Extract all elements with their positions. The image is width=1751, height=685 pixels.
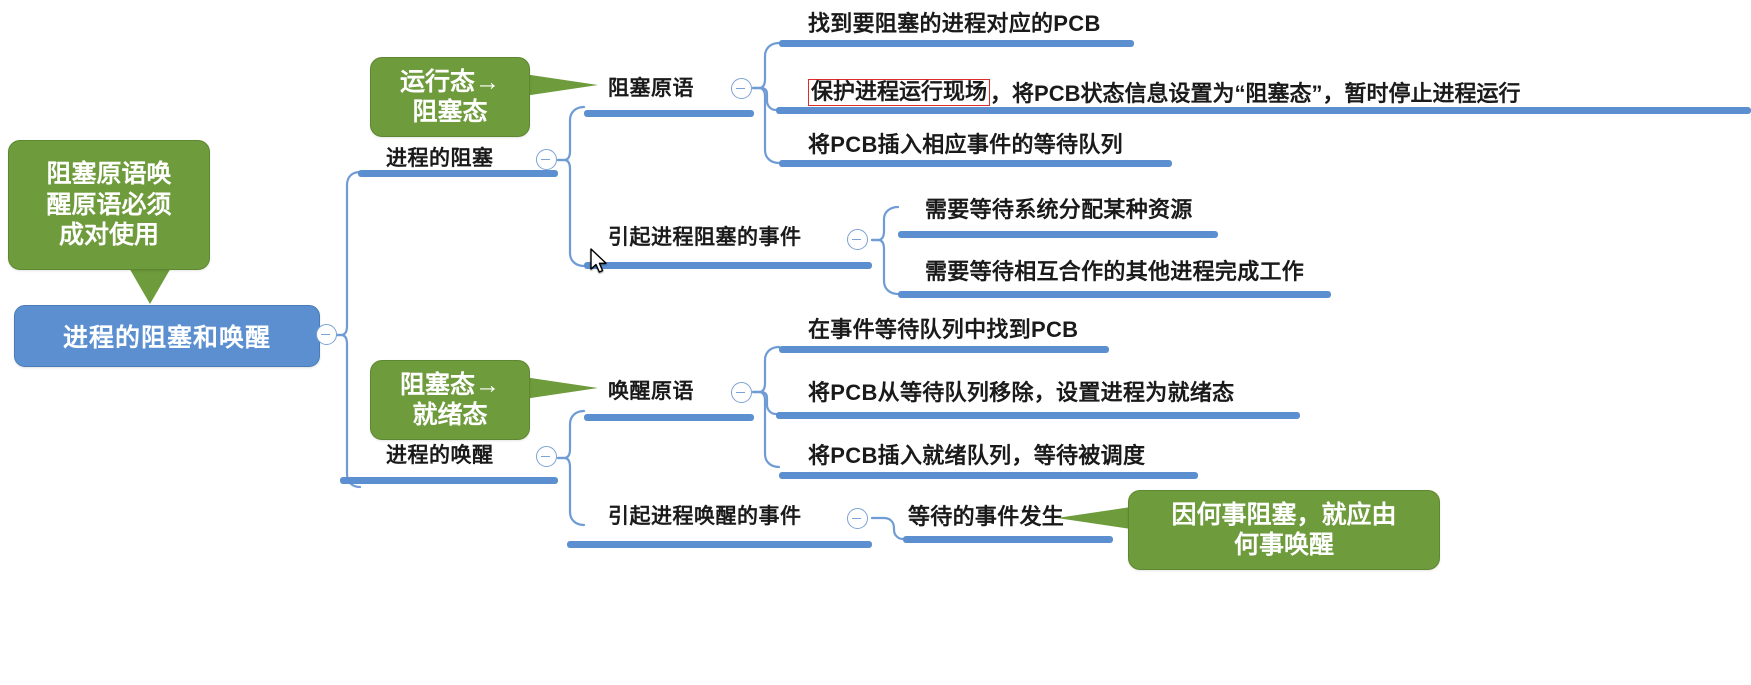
root-collapse-toggle[interactable] (316, 324, 337, 345)
mouse-cursor (590, 248, 610, 276)
topic-insert-wait-queue[interactable]: 将PCB插入相应事件的等待队列 (808, 133, 1123, 157)
topic-wake-primitive[interactable]: 唤醒原语 (608, 380, 694, 403)
topic-wait-cooperating[interactable]: 需要等待相互合作的其他进程完成工作 (925, 260, 1304, 284)
topic-block-events-bar (584, 262, 872, 269)
topic-find-pcb[interactable]: 找到要阻塞的进程对应的PCB (808, 12, 1101, 36)
callout-blocked-by-wakes-by-text: 因何事阻塞，就应由 何事唤醒 (1171, 500, 1396, 561)
callout-blocked-to-ready-text: 阻塞态→ 就绪态 (400, 370, 500, 431)
topic-process-wake[interactable]: 进程的唤醒 (386, 444, 494, 467)
topic-insert-wait-queue-bar (779, 160, 1172, 167)
topic-wait-cooperating-bar (898, 291, 1331, 298)
root-node-label: 进程的阻塞和唤醒 (63, 318, 271, 354)
topic-wait-resource[interactable]: 需要等待系统分配某种资源 (925, 198, 1193, 222)
wake-primitive-collapse-toggle[interactable] (731, 382, 752, 403)
topic-wait-resource-bar (898, 231, 1218, 238)
topic-remove-from-wait[interactable]: 将PCB从等待队列移除，设置进程为就绪态 (808, 381, 1234, 405)
topic-event-occurs[interactable]: 等待的事件发生 (908, 505, 1064, 529)
callout-running-to-blocked-tail (524, 74, 598, 96)
topic-insert-ready-queue-bar (779, 472, 1198, 479)
topic-save-context-rest: ，将PCB状态信息设置为“阻塞态”，暂时停止进程运行 (990, 76, 1520, 108)
process-wake-collapse-toggle[interactable] (536, 446, 557, 467)
topic-save-context-highlight: 保护进程运行现场 (808, 79, 990, 106)
block-primitive-collapse-toggle[interactable] (731, 78, 752, 99)
topic-save-context-bar (776, 107, 1751, 114)
process-block-collapse-toggle[interactable] (536, 149, 557, 170)
topic-process-wake-bar (340, 477, 558, 484)
topic-insert-ready-queue[interactable]: 将PCB插入就绪队列，等待被调度 (808, 444, 1145, 468)
topic-find-pcb-bar (779, 40, 1134, 47)
topic-block-primitive-bar (584, 110, 754, 117)
callout-blocked-by-wakes-by[interactable]: 因何事阻塞，就应由 何事唤醒 (1128, 490, 1440, 570)
callout-pair-usage-text: 阻塞原语唤 醒原语必须 成对使用 (46, 159, 171, 251)
callout-blocked-by-wakes-by-tail (1057, 507, 1131, 529)
callout-blocked-to-ready-tail (524, 377, 598, 399)
callout-pair-usage[interactable]: 阻塞原语唤 醒原语必须 成对使用 (8, 140, 210, 270)
block-events-collapse-toggle[interactable] (847, 229, 868, 250)
topic-save-context[interactable]: 保护进程运行现场，将PCB状态信息设置为“阻塞态”，暂时停止进程运行 (808, 76, 1520, 108)
topic-event-occurs-bar (903, 536, 1113, 543)
topic-find-pcb-in-queue-bar (779, 346, 1109, 353)
topic-block-primitive[interactable]: 阻塞原语 (608, 77, 694, 100)
topic-wake-primitive-bar (584, 414, 754, 421)
topic-wake-events[interactable]: 引起进程唤醒的事件 (608, 505, 802, 528)
callout-blocked-to-ready[interactable]: 阻塞态→ 就绪态 (370, 360, 530, 440)
topic-process-block-bar (358, 170, 558, 177)
mindmap-canvas: 进程的阻塞和唤醒 阻塞原语唤 醒原语必须 成对使用 进程的阻塞 运行态→ 阻塞态… (0, 0, 1751, 685)
topic-remove-from-wait-bar (776, 412, 1300, 419)
topic-block-events[interactable]: 引起进程阻塞的事件 (608, 226, 802, 249)
topic-wake-events-bar (567, 541, 872, 548)
callout-pair-usage-tail (128, 266, 172, 304)
topic-process-block[interactable]: 进程的阻塞 (386, 147, 494, 170)
root-node[interactable]: 进程的阻塞和唤醒 (14, 305, 320, 367)
wake-events-collapse-toggle[interactable] (847, 508, 868, 529)
topic-find-pcb-in-queue[interactable]: 在事件等待队列中找到PCB (808, 318, 1078, 342)
callout-running-to-blocked[interactable]: 运行态→ 阻塞态 (370, 57, 530, 137)
callout-running-to-blocked-text: 运行态→ 阻塞态 (400, 67, 500, 128)
